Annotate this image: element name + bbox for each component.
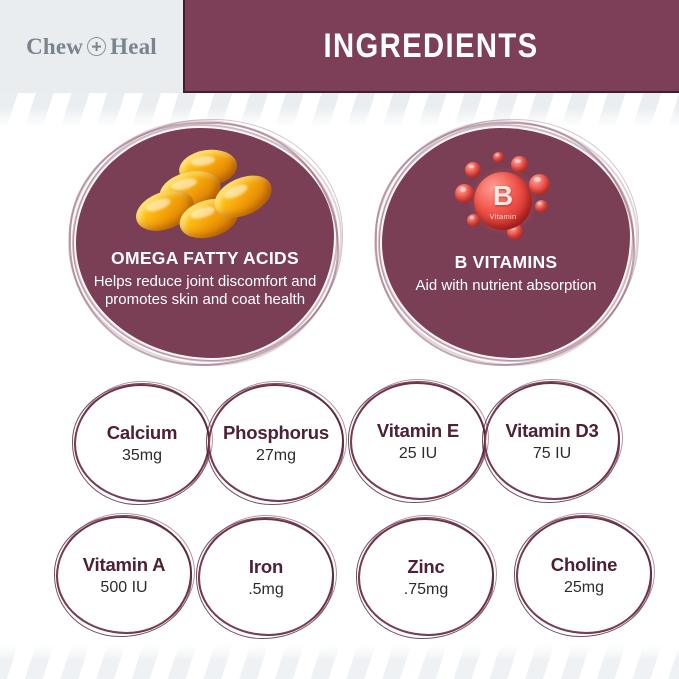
ingredient-circle: Iron .5mg: [190, 512, 342, 642]
ingredient-value: .5mg: [248, 581, 284, 599]
vitamin-b-letter: B: [493, 182, 513, 210]
page-title: INGREDIENTS: [324, 27, 539, 66]
ingredient-circle: Phosphorus 27mg: [200, 378, 352, 508]
fish-oil-capsules-icon: [135, 150, 275, 242]
title-bar: INGREDIENTS: [183, 0, 679, 93]
ingredient-circle: Calcium 35mg: [66, 378, 218, 508]
ingredient-label: Choline: [551, 554, 617, 576]
ingredient-circle: Vitamin A 500 IU: [48, 510, 200, 640]
brand-word-heal: Heal: [110, 34, 157, 60]
ingredient-value: 500 IU: [100, 579, 147, 597]
bottom-stripe-band: [0, 645, 679, 679]
feature-description-omega: Helps reduce joint discomfort and promot…: [93, 273, 318, 310]
ingredient-circle: Vitamin E 25 IU: [342, 376, 494, 506]
ingredient-value: 25 IU: [399, 445, 437, 463]
top-stripe-band: [0, 93, 679, 127]
ingredient-label: Vitamin D3: [505, 420, 598, 442]
ingredient-circle: Choline 25mg: [508, 510, 660, 640]
ingredient-grid: Calcium 35mg Phosphorus 27mg Vitamin E 2…: [0, 378, 679, 646]
ingredient-circle: Zinc .75mg: [350, 512, 502, 642]
vitamin-b-sphere-icon: B Vitamin: [447, 150, 565, 246]
feature-b-vitamins: B Vitamin B VITAMINS Aid with nutrient a…: [382, 128, 630, 358]
ingredient-label: Vitamin A: [83, 554, 166, 576]
ingredient-value: 27mg: [256, 447, 296, 465]
ingredient-value: 35mg: [122, 447, 162, 465]
ingredient-label: Calcium: [107, 422, 178, 444]
brand-logo: Chew Heal: [26, 34, 157, 60]
plus-icon: [87, 37, 106, 56]
ingredient-label: Phosphorus: [223, 422, 329, 444]
feature-section: OMEGA FATTY ACIDS Helps reduce joint dis…: [0, 128, 679, 376]
vitamin-b-sublabel: Vitamin: [490, 212, 517, 221]
vitamin-b-main-sphere: B Vitamin: [474, 172, 532, 230]
brand-word-chew: Chew: [26, 34, 83, 60]
brand-logo-box: Chew Heal: [0, 0, 183, 93]
feature-omega-fatty-acids: OMEGA FATTY ACIDS Helps reduce joint dis…: [76, 128, 334, 358]
ingredient-value: .75mg: [404, 581, 448, 599]
ingredient-label: Zinc: [407, 556, 444, 578]
feature-title-omega: OMEGA FATTY ACIDS: [111, 248, 299, 269]
page-header: Chew Heal INGREDIENTS: [0, 0, 679, 93]
ingredient-label: Iron: [249, 556, 283, 578]
ingredient-circle: Vitamin D3 75 IU: [476, 376, 628, 506]
feature-title-bvitamins: B VITAMINS: [455, 252, 558, 273]
feature-description-bvitamins: Aid with nutrient absorption: [416, 277, 597, 295]
ingredient-value: 75 IU: [533, 445, 571, 463]
ingredient-value: 25mg: [564, 579, 604, 597]
ingredient-label: Vitamin E: [377, 420, 459, 442]
